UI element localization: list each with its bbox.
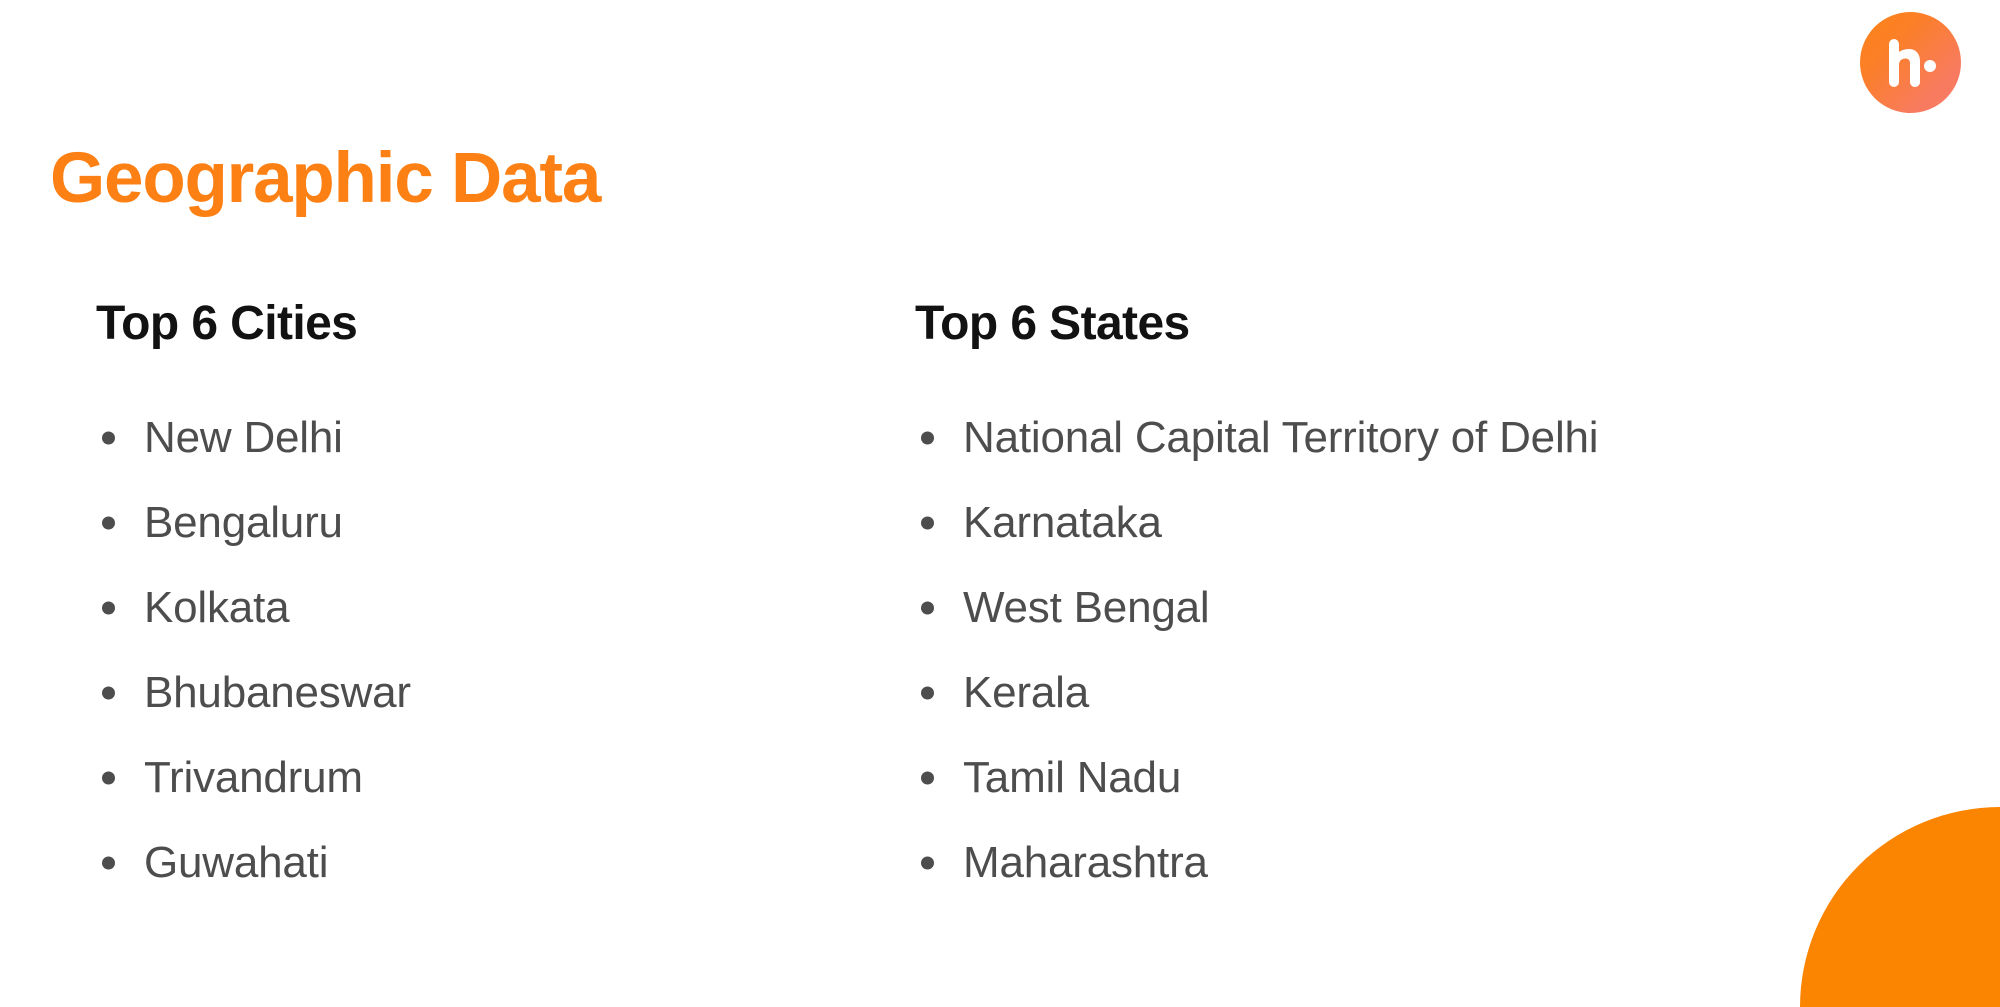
list-item: Karnataka: [915, 480, 1965, 565]
list-item-label: West Bengal: [963, 583, 1209, 632]
list-item: Kerala: [915, 650, 1965, 735]
list-item-label: Bengaluru: [144, 498, 343, 547]
column-states: Top 6 States National Capital Territory …: [915, 296, 1965, 905]
list-item: Bengaluru: [96, 480, 856, 565]
list-item-label: New Delhi: [144, 413, 343, 462]
bullet-dot-icon: [102, 856, 115, 869]
bullet-dot-icon: [921, 771, 934, 784]
bullet-dot-icon: [921, 856, 934, 869]
list-item-label: Trivandrum: [144, 753, 363, 802]
bullet-dot-icon: [102, 431, 115, 444]
list-item: Bhubaneswar: [96, 650, 856, 735]
brand-logo: [1860, 12, 1961, 113]
page-title: Geographic Data: [50, 140, 600, 218]
column-heading-cities: Top 6 Cities: [96, 296, 856, 351]
column-cities: Top 6 Cities New Delhi Bengaluru Kolkata…: [96, 296, 856, 905]
bullet-dot-icon: [102, 516, 115, 529]
list-item-label: Bhubaneswar: [144, 668, 411, 717]
bullet-dot-icon: [921, 516, 934, 529]
list-item: New Delhi: [96, 395, 856, 480]
bullet-dot-icon: [102, 771, 115, 784]
bullet-dot-icon: [102, 686, 115, 699]
list-item: Maharashtra: [915, 820, 1965, 905]
h-dot-icon: [1883, 35, 1939, 91]
list-item-label: Tamil Nadu: [963, 753, 1181, 802]
list-item-label: Kerala: [963, 668, 1089, 717]
bullet-dot-icon: [921, 686, 934, 699]
cities-list: New Delhi Bengaluru Kolkata Bhubaneswar …: [96, 395, 856, 905]
list-item: National Capital Territory of Delhi: [915, 395, 1965, 480]
list-item-label: Guwahati: [144, 838, 328, 887]
bullet-dot-icon: [921, 431, 934, 444]
list-item: West Bengal: [915, 565, 1965, 650]
list-item-label: Kolkata: [144, 583, 289, 632]
bullet-dot-icon: [102, 601, 115, 614]
list-item-label: National Capital Territory of Delhi: [963, 413, 1598, 462]
bullet-dot-icon: [921, 601, 934, 614]
list-item: Tamil Nadu: [915, 735, 1965, 820]
list-item: Kolkata: [96, 565, 856, 650]
states-list: National Capital Territory of Delhi Karn…: [915, 395, 1965, 905]
slide-canvas: Geographic Data Top 6 Cities New Delhi B…: [0, 0, 2000, 1007]
list-item-label: Karnataka: [963, 498, 1162, 547]
list-item-label: Maharashtra: [963, 838, 1208, 887]
list-item: Guwahati: [96, 820, 856, 905]
list-item: Trivandrum: [96, 735, 856, 820]
column-heading-states: Top 6 States: [915, 296, 1965, 351]
